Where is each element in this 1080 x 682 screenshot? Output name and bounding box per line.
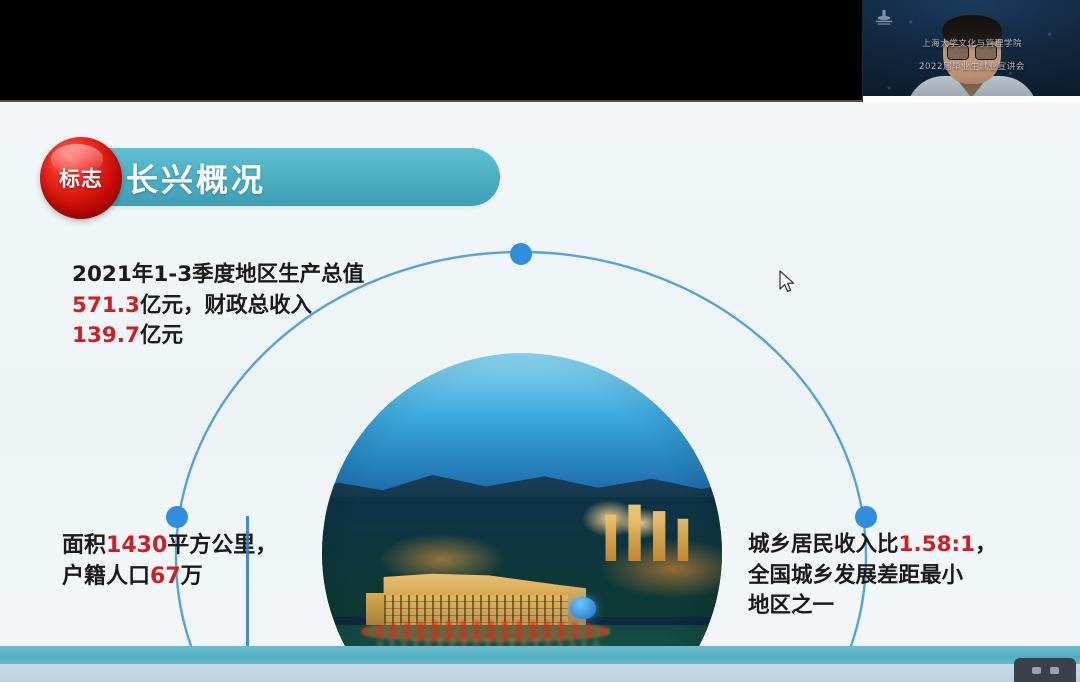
more-options-icon-2	[1050, 667, 1059, 674]
screen-root: 上海大学文化与管理学院 2022届毕业生就业宣讲会 浙江长兴驻苏南招商局 庞涛	[0, 0, 1080, 682]
slide-title-badge-label: 标志	[59, 163, 103, 193]
stat-bottom-right-line2: 全国城乡发展差距最小	[748, 561, 997, 592]
video-overlay-line-1: 上海大学文化与管理学院	[863, 37, 1080, 49]
city-night-photo	[322, 353, 722, 682]
stat-top-left: 2021年1-3季度地区生产总值 571.3亿元，财政总收入 139.7亿元	[72, 260, 364, 352]
stat-income-value: 1.58:1	[899, 532, 976, 557]
stat-area-value: 1430	[106, 533, 167, 558]
slide-accent-line-left	[246, 516, 249, 664]
slide-bottom-band-teal	[0, 646, 1080, 664]
stat-top-left-line3: 139.7亿元	[72, 321, 364, 352]
slide-title-badge: 标志	[40, 137, 122, 219]
stat-top-left-line1: 2021年1-3季度地区生产总值	[72, 260, 364, 291]
stat-area-prefix: 面积	[62, 533, 106, 558]
stat-gdp-suffix: 亿元，财政总收入	[140, 293, 312, 318]
stat-income-suffix: ，	[975, 532, 997, 557]
stat-area-line: 面积1430平方公里，	[62, 530, 277, 561]
orbit-node-left	[166, 506, 188, 528]
video-overlay-line-2: 2022届毕业生就业宣讲会	[863, 60, 1080, 72]
more-options-icon	[1032, 667, 1041, 674]
slide-canvas: 长兴概况 标志 2021年1-3季度地区生产总值 571.3亿元，财政总收入 1…	[0, 102, 1080, 682]
more-options-button[interactable]	[1014, 658, 1076, 682]
stat-gdp-value: 571.3	[72, 293, 140, 318]
university-logo-icon	[873, 8, 895, 28]
orbit-node-right	[855, 506, 877, 528]
stat-income-prefix: 城乡居民收入比	[748, 532, 899, 557]
stat-income-ratio-line: 城乡居民收入比1.58:1，	[748, 530, 997, 561]
stat-population-prefix: 户籍人口	[62, 564, 150, 589]
stat-revenue-suffix: 亿元	[140, 323, 183, 348]
stat-revenue-value: 139.7	[72, 323, 140, 348]
stat-top-left-line2: 571.3亿元，财政总收入	[72, 291, 364, 322]
stat-area-suffix: 平方公里，	[167, 533, 277, 558]
slide-title: 长兴概况	[126, 152, 266, 204]
stat-population-value: 67	[150, 564, 181, 589]
stat-population-suffix: 万	[181, 564, 203, 589]
stat-bottom-right-line3: 地区之一	[748, 591, 997, 622]
stat-bottom-right: 城乡居民收入比1.58:1， 全国城乡发展差距最小 地区之一	[748, 530, 997, 622]
slide-bottom-band-light	[0, 664, 1080, 682]
stat-population-line: 户籍人口67万	[62, 561, 277, 592]
orbit-node-top	[510, 243, 532, 265]
mouse-pointer-icon	[778, 270, 796, 294]
stat-bottom-left: 面积1430平方公里， 户籍人口67万	[62, 530, 277, 592]
